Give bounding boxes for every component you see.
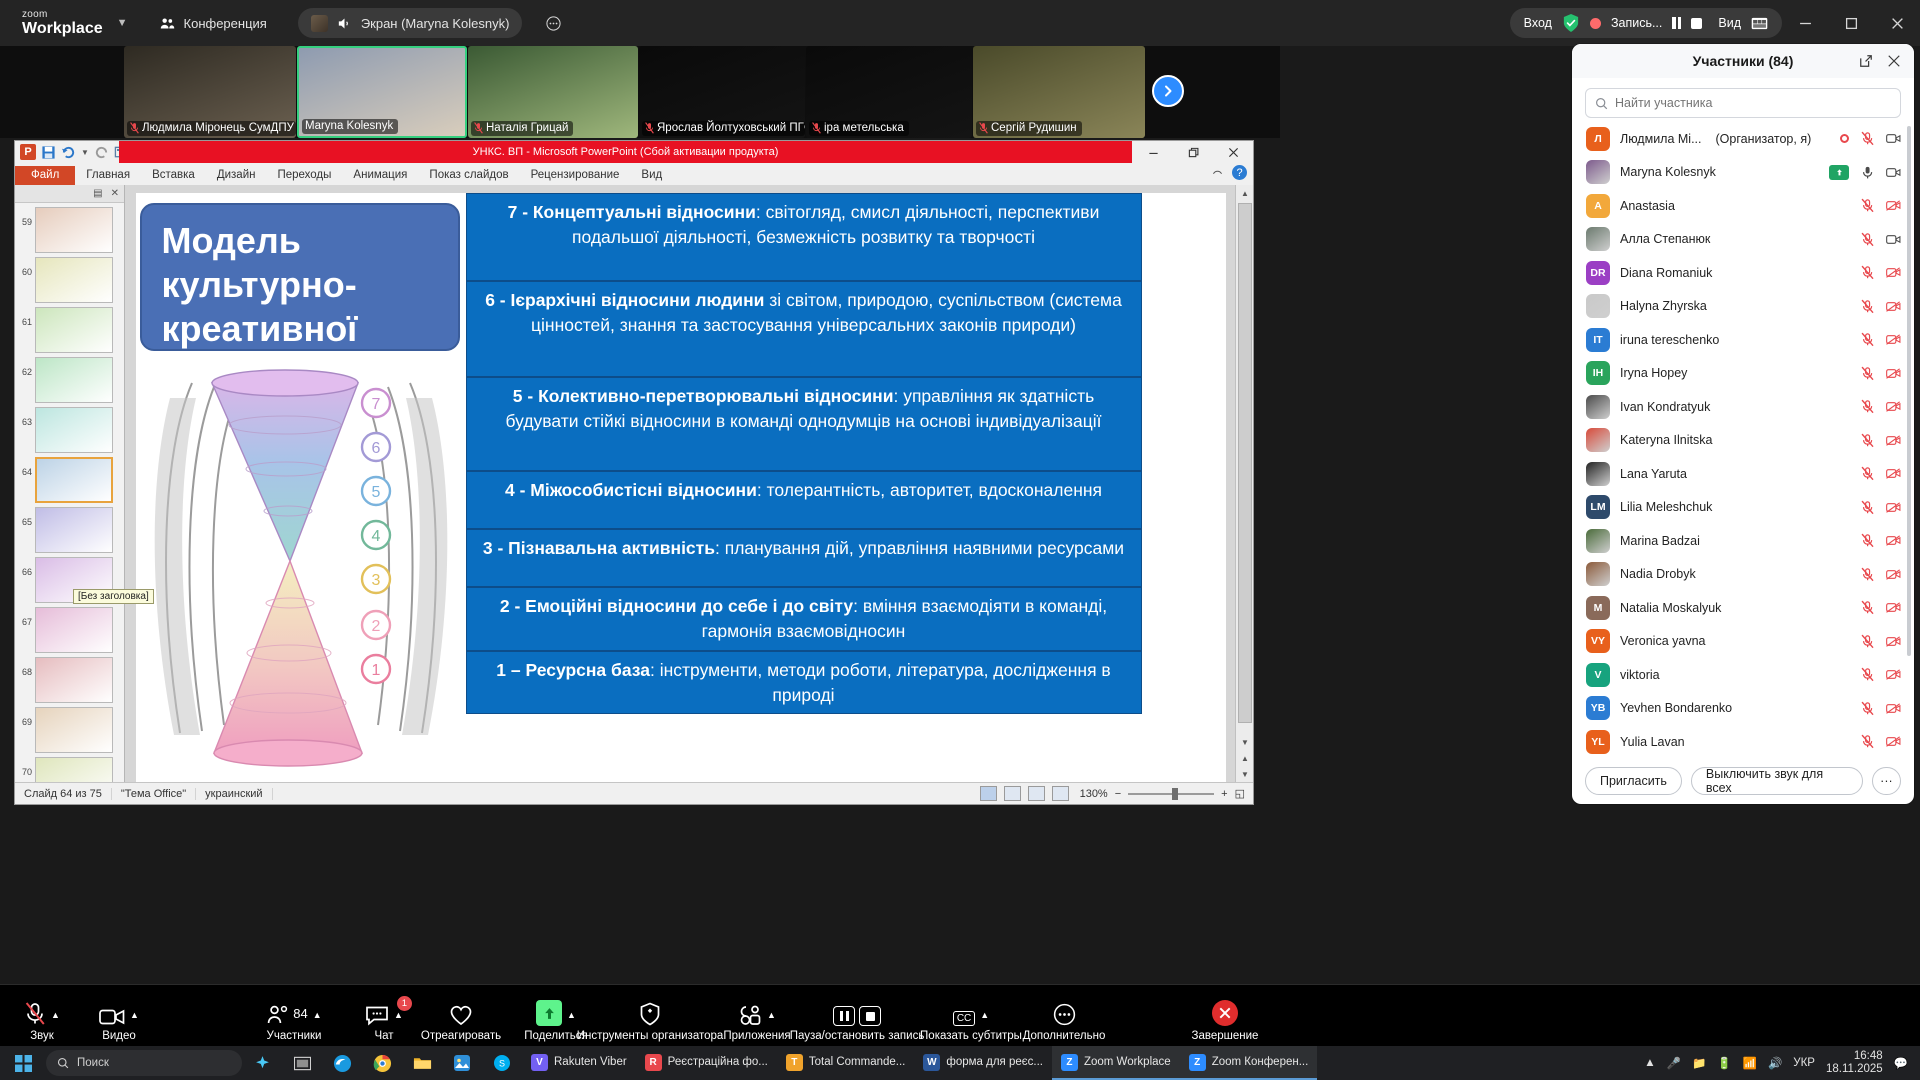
- view-normal-button[interactable]: [980, 786, 997, 801]
- powerpoint-icon: P: [20, 144, 36, 160]
- video-tile[interactable]: іра метельська: [806, 46, 972, 138]
- tray-battery-icon[interactable]: 🔋: [1717, 1056, 1731, 1070]
- mic-muted-icon[interactable]: [1860, 634, 1875, 649]
- video-tile[interactable]: Maryna Kolesnyk: [297, 46, 467, 138]
- participant-name: Алла Степанюк: [1620, 232, 1710, 246]
- prev-slide-button[interactable]: ▲: [1236, 750, 1254, 766]
- tab-more-button[interactable]: [532, 8, 575, 38]
- close-icon[interactable]: [1887, 54, 1901, 68]
- video-off-icon[interactable]: [1886, 500, 1901, 515]
- mic-muted-icon[interactable]: [1860, 198, 1875, 213]
- slide-thumbnail[interactable]: [35, 407, 113, 453]
- video-off-icon[interactable]: [1886, 667, 1901, 682]
- chevron-up-icon[interactable]: ▲: [313, 1010, 322, 1020]
- ribbon-tab-8[interactable]: Вид: [630, 166, 673, 185]
- ppt-titlebar: P ▼ | ▼ УНКС. ВП - Microsoft Powe: [15, 141, 1253, 163]
- taskbar-search[interactable]: Поиск: [46, 1050, 242, 1076]
- taskbar-clock[interactable]: 16:48 18.11.2025: [1826, 1050, 1883, 1076]
- thumbnail-row[interactable]: 59: [15, 203, 124, 253]
- participants-title: Участники (84): [1693, 53, 1794, 69]
- thumbnail-number: 64: [17, 457, 32, 477]
- toolbar-label: Звук: [30, 1030, 54, 1042]
- slide-band-1[interactable]: 1 – Ресурсна база: інструменти, методи р…: [466, 651, 1142, 715]
- video-off-icon[interactable]: [1886, 533, 1901, 548]
- slide-thumbnail[interactable]: [35, 257, 113, 303]
- participant-row[interactable]: IHIryna Hopey: [1572, 357, 1914, 391]
- recording-dot-icon: [1840, 134, 1849, 143]
- avatar: [1586, 562, 1610, 586]
- mic-muted-icon[interactable]: [1860, 131, 1875, 146]
- thumbnail-number: 65: [17, 507, 32, 527]
- participant-row[interactable]: DRDiana Romaniuk: [1572, 256, 1914, 290]
- thumbnail-number: 66: [17, 557, 32, 577]
- slide-thumbnail[interactable]: [35, 607, 113, 653]
- participant-status-icons: [1840, 131, 1901, 146]
- participant-name: Iryna Hopey: [1620, 366, 1687, 380]
- mic-muted-icon[interactable]: [1860, 366, 1875, 381]
- thumbnail-row[interactable]: 60: [15, 253, 124, 303]
- mic-muted-icon[interactable]: [1860, 533, 1875, 548]
- ribbon-tab-0[interactable]: Файл: [15, 166, 75, 185]
- svg-text:4: 4: [371, 528, 380, 545]
- clock-time: 16:48: [1826, 1050, 1883, 1063]
- avatar: [1586, 227, 1610, 251]
- mic-muted-icon[interactable]: [1860, 667, 1875, 682]
- svg-text:6: 6: [371, 440, 380, 457]
- participant-status-icons: [1860, 299, 1901, 314]
- taskbar-app[interactable]: ZZoom Workplace: [1052, 1046, 1180, 1080]
- funnel-diagram-icon: 7654321: [140, 363, 462, 775]
- taskview-icon[interactable]: [282, 1046, 322, 1080]
- svg-text:7: 7: [371, 396, 380, 413]
- avatar: Л: [1586, 127, 1610, 151]
- participant-row[interactable]: Halyna Zhyrska: [1572, 290, 1914, 324]
- slide-thumbnail[interactable]: [35, 657, 113, 703]
- mute-all-button[interactable]: Выключить звук для всех: [1691, 767, 1863, 795]
- thumbnail-row[interactable]: 64: [15, 453, 124, 503]
- participant-row[interactable]: LMLilia Meleshchuk: [1572, 491, 1914, 525]
- avatar: [1586, 160, 1610, 184]
- participant-name: Kateryna Ilnitska: [1620, 433, 1712, 447]
- tab-screen-share[interactable]: Экран (Maryna Kolesnyk): [298, 8, 523, 38]
- video-tile[interactable]: Сергій Рудишин: [973, 46, 1145, 138]
- ppt-title-text: УНКС. ВП - Microsoft PowerPoint (Сбой ак…: [119, 141, 1132, 163]
- save-icon[interactable]: [41, 145, 56, 160]
- slide-title[interactable]: Модель культурно-креативної: [140, 203, 460, 351]
- ppt-close-button[interactable]: [1213, 141, 1253, 163]
- taskbar-app-label: форма для реєс...: [946, 1056, 1043, 1068]
- more-dots-icon: [545, 15, 562, 32]
- taskbar-app[interactable]: VRakuten Viber: [522, 1046, 636, 1080]
- participants-scrollbar[interactable]: [1907, 126, 1911, 656]
- band-text: : планування дій, управління наявними ре…: [715, 538, 1124, 558]
- mic-muted-icon[interactable]: [1860, 265, 1875, 280]
- video-off-icon[interactable]: [1886, 433, 1901, 448]
- participant-name: Halyna Zhyrska: [1620, 299, 1707, 313]
- tray-mic-icon[interactable]: 🎤: [1667, 1056, 1681, 1070]
- mic-icon[interactable]: [1860, 165, 1875, 180]
- thumbnail-row[interactable]: 69: [15, 703, 124, 753]
- tab-conference[interactable]: Конференция: [146, 8, 280, 38]
- thumbnail-row[interactable]: 62: [15, 353, 124, 403]
- window-close-button[interactable]: [1874, 0, 1920, 46]
- edge-icon[interactable]: [322, 1046, 362, 1080]
- toolbar-heart-button[interactable]: Отреагировать: [406, 1000, 516, 1042]
- minimize-icon: [1799, 17, 1812, 30]
- popout-icon[interactable]: [1859, 54, 1873, 68]
- explorer-icon[interactable]: [402, 1046, 442, 1080]
- slide-pane-header: ▤ ✕: [15, 185, 124, 203]
- participant-row[interactable]: YLYulia Lavan: [1572, 725, 1914, 758]
- avatar: IT: [1586, 328, 1610, 352]
- tab-screen-share-label: Экран (Maryna Kolesnyk): [361, 16, 510, 31]
- participant-row[interactable]: ЛЛюдмила Mi...(Организатор, я): [1572, 122, 1914, 156]
- video-off-icon[interactable]: [1886, 332, 1901, 347]
- participant-count: 84: [293, 1006, 307, 1021]
- participant-row[interactable]: Nadia Drobyk: [1572, 558, 1914, 592]
- chevron-up-icon[interactable]: ▲: [767, 1010, 776, 1020]
- speaker-icon: [336, 15, 353, 32]
- tray-folder-icon[interactable]: 📁: [1692, 1056, 1706, 1070]
- toolbar-label: Отреагировать: [421, 1030, 501, 1042]
- video-off-icon[interactable]: [1886, 399, 1901, 414]
- zoom-titlebar: zoom Workplace ▼ Конференция Экран (Mary…: [0, 0, 1920, 46]
- participants-panel-header: Участники (84): [1572, 44, 1914, 78]
- slide-thumbnail-pane[interactable]: ▤ ✕ 596061626364656667686970: [15, 185, 125, 782]
- signin-button[interactable]: Вход: [1524, 16, 1552, 30]
- participant-status-icons: [1860, 667, 1901, 682]
- tray-language[interactable]: УКР: [1793, 1057, 1815, 1069]
- toolbar-shield-button[interactable]: Инструменты организатора: [595, 1000, 705, 1042]
- ribbon-tab-5[interactable]: Анимация: [342, 166, 418, 185]
- participants-list[interactable]: ЛЛюдмила Mi...(Организатор, я)Maryna Kol…: [1572, 122, 1914, 758]
- slide-band-5[interactable]: 5 - Колективно-перетворювальні відносини…: [466, 377, 1142, 471]
- thumbnail-list[interactable]: 596061626364656667686970: [15, 203, 124, 803]
- windows-icon: [15, 1055, 32, 1072]
- language-indicator[interactable]: украинский: [196, 788, 272, 800]
- window-maximize-button[interactable]: [1828, 0, 1874, 46]
- ribbon-tab-3[interactable]: Дизайн: [206, 166, 267, 185]
- shield-icon: [639, 1000, 661, 1026]
- zoom-out-button[interactable]: −: [1115, 788, 1121, 800]
- maximize-icon: [1845, 17, 1858, 30]
- outline-tab-icon[interactable]: ▤: [93, 188, 102, 199]
- band-heading: 5 - Колективно-перетворювальні відносини: [513, 386, 894, 406]
- invite-button[interactable]: Пригласить: [1585, 767, 1682, 795]
- taskbar-app-label: Zoom Workplace: [1084, 1056, 1171, 1068]
- participant-row[interactable]: AAnastasia: [1572, 189, 1914, 223]
- slide-band-4[interactable]: 4 - Міжособистісні відносини: толерантні…: [466, 471, 1142, 529]
- view-label[interactable]: Вид: [1718, 16, 1741, 30]
- zoom-slider[interactable]: [1128, 793, 1214, 795]
- slide-tooltip: [Без заголовка]: [73, 589, 154, 604]
- slide-band-3[interactable]: 3 - Пізнавальна активність: планування д…: [466, 529, 1142, 587]
- zoom-slider-knob[interactable]: [1172, 788, 1178, 800]
- ribbon-tab-4[interactable]: Переходы: [266, 166, 342, 185]
- avatar: VY: [1586, 629, 1610, 653]
- mic-muted-icon[interactable]: [1860, 567, 1875, 582]
- window-minimize-button[interactable]: [1782, 0, 1828, 46]
- participant-name: Yulia Lavan: [1620, 735, 1685, 749]
- svg-text:2: 2: [371, 618, 380, 635]
- slide-thumbnail[interactable]: [35, 457, 113, 503]
- taskbar-app-label: Zoom Конферен...: [1212, 1056, 1309, 1068]
- chevron-up-icon[interactable]: ▲: [980, 1010, 989, 1020]
- video-off-icon[interactable]: [1886, 734, 1901, 749]
- fit-slide-button[interactable]: ◱: [1235, 787, 1245, 800]
- mic-muted-icon[interactable]: [1860, 500, 1875, 515]
- zoom-meeting-toolbar: ▲Звук▲Видео84▲Участники1▲ЧатОтреагироват…: [0, 984, 1920, 1046]
- minimize-icon: [1148, 147, 1159, 158]
- slide-vertical-scrollbar[interactable]: ▲ ▼ ▲ ▼: [1235, 185, 1253, 782]
- mic-muted-icon[interactable]: [1860, 600, 1875, 615]
- video-off-icon[interactable]: [1886, 567, 1901, 582]
- participant-status-icons: [1860, 265, 1901, 280]
- band-text: : толерантність, авторитет, вдосконаленн…: [757, 480, 1102, 500]
- video-off-icon[interactable]: [1886, 299, 1901, 314]
- copilot-icon[interactable]: [242, 1046, 282, 1080]
- video-tile-name: Ярослав Йолтуховський ПГФ...: [642, 121, 805, 136]
- toolbar-pause-stop-button[interactable]: Пауза/остановить запись: [802, 1000, 912, 1042]
- chevron-up-icon[interactable]: ▲: [394, 1010, 403, 1020]
- undo-dropdown-icon[interactable]: ▼: [81, 148, 89, 157]
- video-off-icon[interactable]: [1886, 701, 1901, 716]
- avatar: YB: [1586, 696, 1610, 720]
- thumbnail-number: 67: [17, 607, 32, 627]
- participant-row[interactable]: VYVeronica yavna: [1572, 625, 1914, 659]
- more-dots-icon: [1053, 1000, 1076, 1026]
- participant-row[interactable]: MNatalia Moskalyuk: [1572, 591, 1914, 625]
- avatar: A: [1586, 194, 1610, 218]
- svg-text:1: 1: [371, 662, 380, 679]
- taskbar-app-icon: Z: [1061, 1054, 1078, 1071]
- mic-muted-icon: [130, 122, 139, 134]
- taskbar-app-icon: T: [786, 1054, 803, 1071]
- mic-muted-icon: [474, 122, 483, 134]
- participant-row[interactable]: Marina Badzai: [1572, 524, 1914, 558]
- taskbar-app[interactable]: Wформа для реєс...: [914, 1046, 1052, 1080]
- slide-band-7[interactable]: 7 - Концептуальні відносини: світогляд, …: [466, 193, 1142, 281]
- photos-icon[interactable]: [442, 1046, 482, 1080]
- mic-muted-icon[interactable]: [1860, 399, 1875, 414]
- taskbar-app[interactable]: RРеєстраційна фо...: [636, 1046, 777, 1080]
- current-slide[interactable]: Модель культурно-креативної: [136, 193, 1226, 783]
- next-participants-button[interactable]: [1152, 75, 1184, 107]
- mic-muted-icon[interactable]: [1860, 701, 1875, 716]
- video-icon[interactable]: [1886, 131, 1901, 146]
- band-heading: 4 - Міжособистісні відносини: [505, 480, 757, 500]
- video-off-icon[interactable]: [1886, 600, 1901, 615]
- tray-wifi-icon[interactable]: 📶: [1743, 1056, 1757, 1070]
- skype-icon[interactable]: S: [482, 1046, 522, 1080]
- zoom-in-button[interactable]: +: [1221, 788, 1227, 800]
- zoom-level-label: 130%: [1080, 788, 1108, 800]
- ppt-workspace: ▤ ✕ 596061626364656667686970 [Без заголо…: [15, 185, 1253, 782]
- recording-label: Запись...: [1611, 16, 1662, 30]
- toolbar-video-button[interactable]: ▲Видео: [64, 1000, 174, 1042]
- thumbnail-row[interactable]: 63: [15, 403, 124, 453]
- band-heading: 2 - Емоційні відносини до себе і до світ…: [500, 596, 853, 616]
- participant-row[interactable]: Maryna Kolesnyk: [1572, 156, 1914, 190]
- theme-name: "Тема Office": [112, 788, 196, 800]
- video-tile[interactable]: Наталія Грицай: [468, 46, 638, 138]
- chevron-up-icon[interactable]: ▲: [51, 1010, 60, 1020]
- workspace-dropdown-icon[interactable]: ▼: [117, 17, 128, 29]
- participant-row[interactable]: Vviktoria: [1572, 658, 1914, 692]
- view-sorter-button[interactable]: [1004, 786, 1021, 801]
- ribbon-collapse-icon[interactable]: [1211, 166, 1224, 179]
- toolbar-label: Участники: [267, 1030, 322, 1042]
- clock-date: 18.11.2025: [1826, 1063, 1883, 1076]
- taskbar-app-icon: V: [531, 1054, 548, 1071]
- ppt-status-bar: Слайд 64 из 75 "Тема Office" украинский …: [15, 782, 1253, 804]
- participants-more-button[interactable]: ···: [1872, 767, 1901, 795]
- svg-text:S: S: [499, 1059, 505, 1069]
- participant-row[interactable]: Алла Степанюк: [1572, 223, 1914, 257]
- mic-muted-icon[interactable]: [1860, 734, 1875, 749]
- mic-muted-icon[interactable]: [1860, 466, 1875, 481]
- mic-muted-icon: [645, 122, 654, 134]
- video-icon: ▲: [99, 1000, 139, 1026]
- zoom-logo-big: Workplace: [22, 21, 103, 37]
- video-tile-name: Сергій Рудишин: [976, 121, 1082, 136]
- search-input[interactable]: [1615, 96, 1891, 110]
- scroll-down-button[interactable]: ▼: [1236, 734, 1254, 750]
- ribbon-tab-7[interactable]: Рецензирование: [520, 166, 631, 185]
- video-tile-name: Людмила Міронець СумДПУ: [127, 121, 296, 136]
- participant-row[interactable]: YBYevhen Bondarenko: [1572, 692, 1914, 726]
- taskbar-app[interactable]: TTotal Commande...: [777, 1046, 915, 1080]
- ppt-window-controls: [1133, 141, 1253, 163]
- slide-band-6[interactable]: 6 - Ієрархічні відносини людини зі світо…: [466, 281, 1142, 377]
- avatar: [1586, 428, 1610, 452]
- view-reading-button[interactable]: [1028, 786, 1045, 801]
- participant-status-icons: [1860, 232, 1901, 247]
- toolbar-more-dots-button[interactable]: Дополнительно: [1009, 1000, 1119, 1042]
- ppt-restore-button[interactable]: [1173, 141, 1213, 163]
- pause-icon[interactable]: [1672, 17, 1681, 29]
- mic-muted-icon[interactable]: [1860, 332, 1875, 347]
- avatar: IH: [1586, 361, 1610, 385]
- chevron-up-icon[interactable]: ▲: [130, 1010, 139, 1020]
- windows-taskbar: Поиск S VRakuten ViberRРеєстраційна фо..…: [0, 1046, 1920, 1080]
- participant-row[interactable]: ITiruna tereschenko: [1572, 323, 1914, 357]
- search-icon: [57, 1057, 69, 1069]
- slide-thumbnail[interactable]: [35, 707, 113, 753]
- participant-name: Diana Romaniuk: [1620, 266, 1712, 280]
- stop-icon[interactable]: [1691, 18, 1702, 29]
- apps-icon: ▲: [738, 1000, 776, 1026]
- help-button[interactable]: ?: [1232, 165, 1247, 180]
- zoom-logo-small: zoom: [22, 10, 103, 20]
- video-off-icon[interactable]: [1886, 466, 1901, 481]
- tray-volume-icon[interactable]: 🔊: [1768, 1056, 1782, 1070]
- video-tile[interactable]: Людмила Міронець СумДПУ: [124, 46, 296, 138]
- scrollbar-thumb[interactable]: [1238, 203, 1252, 723]
- tab-conference-label: Конференция: [184, 16, 267, 31]
- video-off-icon[interactable]: [1886, 265, 1901, 280]
- ribbon-tab-2[interactable]: Вставка: [141, 166, 206, 185]
- thumbnail-row[interactable]: 65: [15, 503, 124, 553]
- chrome-icon[interactable]: [362, 1046, 402, 1080]
- view-grid-icon[interactable]: [1751, 15, 1768, 32]
- scroll-up-button[interactable]: ▲: [1236, 185, 1254, 201]
- participant-status-icons: [1860, 198, 1901, 213]
- close-icon[interactable]: ✕: [111, 188, 119, 199]
- thumbnail-row[interactable]: 61: [15, 303, 124, 353]
- pause-stop-icon: [833, 1000, 881, 1026]
- thumbnail-row[interactable]: 67: [15, 603, 124, 653]
- slide-counter: Слайд 64 из 75: [15, 788, 112, 800]
- status-right-cluster: 130% − + ◱: [980, 786, 1253, 801]
- mic-muted-icon[interactable]: [1860, 433, 1875, 448]
- participants-panel-footer: Пригласить Выключить звук для всех ···: [1572, 758, 1914, 804]
- chevron-up-icon[interactable]: ▲: [567, 1010, 576, 1020]
- toolbar-label: Видео: [102, 1030, 136, 1042]
- ppt-minimize-button[interactable]: [1133, 141, 1173, 163]
- video-icon[interactable]: [1886, 232, 1901, 247]
- slide-canvas[interactable]: Модель культурно-креативної: [126, 185, 1235, 782]
- notification-icon[interactable]: 💬: [1894, 1056, 1908, 1070]
- start-button[interactable]: [0, 1046, 46, 1080]
- thumbnail-number: 60: [17, 257, 32, 277]
- video-off-icon[interactable]: [1886, 366, 1901, 381]
- mic-muted-icon[interactable]: [1860, 232, 1875, 247]
- participant-status-icons: [1860, 567, 1901, 582]
- svg-text:5: 5: [371, 484, 380, 501]
- slide-thumbnail[interactable]: [35, 507, 113, 553]
- slide-band-2[interactable]: 2 - Емоційні відносини до себе і до світ…: [466, 587, 1142, 651]
- slide-thumbnail[interactable]: [35, 207, 113, 253]
- thumbnail-row[interactable]: 68: [15, 653, 124, 703]
- slide-thumbnail[interactable]: [35, 307, 113, 353]
- zoom-logo: zoom Workplace: [22, 10, 103, 37]
- video-off-icon[interactable]: [1886, 634, 1901, 649]
- participant-row[interactable]: Ivan Kondratyuk: [1572, 390, 1914, 424]
- mic-muted-icon[interactable]: [1860, 299, 1875, 314]
- participant-row[interactable]: Kateryna Ilnitska: [1572, 424, 1914, 458]
- ribbon-right-cluster: ?: [1211, 165, 1247, 180]
- next-slide-button[interactable]: ▼: [1236, 766, 1254, 782]
- participant-search-box[interactable]: [1585, 88, 1901, 118]
- video-off-icon[interactable]: [1886, 198, 1901, 213]
- video-tile[interactable]: Ярослав Йолтуховський ПГФ...: [639, 46, 805, 138]
- redo-icon[interactable]: [94, 145, 109, 160]
- participant-status-icons: [1860, 366, 1901, 381]
- toolbar-label: Показать субтитры: [920, 1030, 1022, 1042]
- sharing-badge-icon: [1829, 165, 1849, 180]
- view-slideshow-button[interactable]: [1052, 786, 1069, 801]
- taskbar-app[interactable]: ZZoom Конферен...: [1180, 1046, 1318, 1080]
- shield-check-icon[interactable]: [1562, 13, 1580, 33]
- slide-thumbnail[interactable]: [35, 357, 113, 403]
- video-icon[interactable]: [1886, 165, 1901, 180]
- mic-muted-icon: ▲: [24, 1000, 60, 1026]
- ribbon-tab-1[interactable]: Главная: [75, 166, 141, 185]
- heart-icon: [449, 1000, 473, 1026]
- participant-status-icons: [1860, 634, 1901, 649]
- toolbar-end-call-button[interactable]: Завершение: [1170, 1000, 1280, 1042]
- participant-row[interactable]: Lana Yaruta: [1572, 457, 1914, 491]
- avatar: DR: [1586, 261, 1610, 285]
- participant-name: Ivan Kondratyuk: [1620, 400, 1710, 414]
- thumbnail-number: 63: [17, 407, 32, 427]
- avatar: M: [1586, 596, 1610, 620]
- participant-name: Natalia Moskalyuk: [1620, 601, 1721, 615]
- tray-chevron-icon[interactable]: ▲: [1644, 1057, 1655, 1069]
- undo-icon[interactable]: [61, 145, 76, 160]
- ribbon-tab-6[interactable]: Показ слайдов: [418, 166, 519, 185]
